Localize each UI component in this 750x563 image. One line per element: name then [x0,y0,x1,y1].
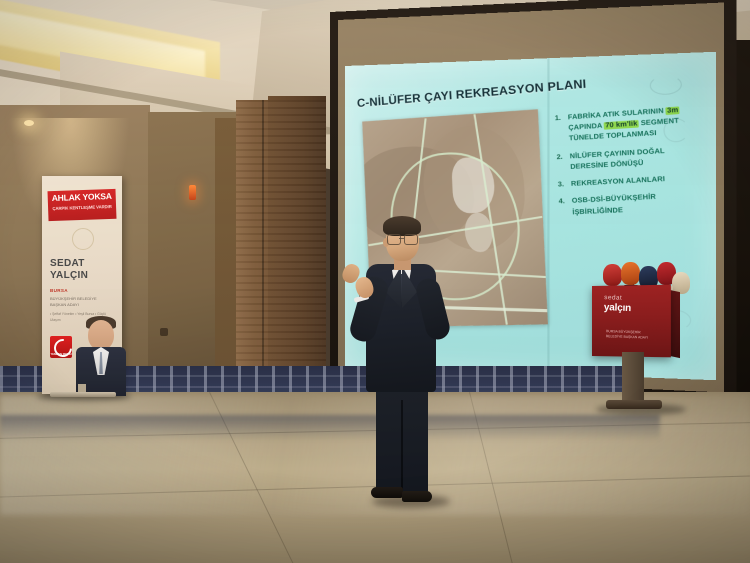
wall-sconce-icon [189,185,196,200]
glasses-lens-right [404,234,418,245]
glasses-bridge [399,238,404,239]
photo-head [88,320,114,350]
bullet-number: 2. [556,152,565,174]
banner-role: BÜYÜKŞEHİR BELEDİYE BAŞKAN ADAYI [50,296,114,308]
bullet-text: OSB-DSİ-BÜYÜKŞEHİR İŞBİRLİĞİNDE [572,193,657,219]
mic-orange [621,262,640,285]
banner-slogan: AHLAK YOKSA [48,192,116,203]
wall-outlet-icon [160,328,168,336]
banner-emblem-icon [72,228,94,250]
mic-red [603,264,622,286]
speaker-trouser-seam [401,400,403,492]
podium-brand-logo: sedat yalçın [604,295,655,314]
banner-slogan-sub: ÇARPIK KENTLEŞME VARDIR [48,204,116,211]
conference-photo-scene: C-NİLÜFER ÇAYI REKREASYON PLANI 1. FABRİ… [0,0,750,563]
ceiling-downlight-icon [24,120,34,126]
banner-slogan-block: AHLAK YOKSA ÇARPIK KENTLEŞME VARDIR [47,189,116,221]
bullet-text: NİLÜFER ÇAYININ DOĞAL DERESİNE DÖNÜŞÜ [570,146,666,173]
speaker-glasses-icon [387,234,417,243]
speaker-shoe-left [371,487,403,498]
bullet-number: 4. [559,197,568,219]
list-item: 3. REKREASYON ALANLARI [558,172,711,191]
list-item: 2. NİLÜFER ÇAYININ DOĞAL DERESİNE DÖNÜŞÜ [556,143,710,174]
banner-city: BURSA [50,288,68,293]
glasses-lens-left [387,234,401,245]
bullet-text: REKREASYON ALANLARI [571,175,665,191]
wood-grain-texture [236,100,326,400]
screen-panel-seam [547,58,549,374]
banner-candidate-name: SEDATYALÇIN [50,258,88,281]
speaker-hair [383,216,421,236]
podium-brand-main: yalçın [604,303,654,315]
bullet-number: 1. [555,113,564,146]
podium-base [606,400,662,409]
podium-stem [622,352,644,404]
column-edge [262,100,264,400]
podium-subtitle: BURSA BÜYÜKŞEHİR BELEDİYE BAŞKAN ADAYI [606,329,654,342]
bullet-text: FABRİKA ATIK SULARININ 3m ÇAPINDA 70 km'… [568,105,681,145]
slide-bullet-list: 1. FABRİKA ATIK SULARININ 3m ÇAPINDA 70 … [555,103,713,225]
bullet-highlight: 3m [666,106,680,114]
carpet-reflection [0,415,660,441]
logo-text: YENİDEN REFAH [50,353,72,356]
rollup-banner: AHLAK YOKSA ÇARPIK KENTLEŞME VARDIR SEDA… [42,176,122,394]
party-logo-icon: YENİDEN REFAH [50,336,72,358]
banner-stand-base [50,392,116,397]
logo-swoosh-icon [50,335,75,360]
bullet-number: 3. [558,180,566,191]
speaker-shoe-right [402,491,432,502]
bullet-highlight: 70 km'lik [604,120,639,130]
list-item: 4. OSB-DSİ-BÜYÜKŞEHİR İŞBİRLİĞİNDE [559,190,713,219]
